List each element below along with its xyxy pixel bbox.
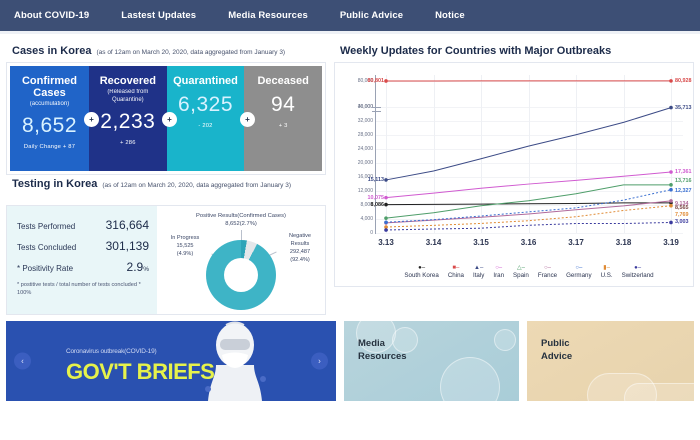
legend-marker-icon: ▲– bbox=[473, 265, 484, 272]
negative-pct: (92.4%) bbox=[290, 257, 310, 263]
x-axis-tick-label: 3.13 bbox=[378, 238, 394, 247]
in-progress-label: In Progress bbox=[171, 235, 200, 241]
plus-icon: + bbox=[240, 112, 255, 127]
card-change: - 202 bbox=[173, 123, 239, 129]
card-label: Quarantined bbox=[173, 75, 239, 87]
carousel-next-button[interactable]: › bbox=[311, 353, 328, 370]
in-progress-value: 15,525 bbox=[176, 243, 193, 249]
legend-item-spain[interactable]: △–Spain bbox=[513, 265, 529, 280]
banner-headline-tag: (COVID-19) bbox=[124, 348, 156, 355]
series-marker bbox=[384, 196, 388, 200]
row-value: 2.9% bbox=[127, 260, 149, 274]
promo-title-line2: Advice bbox=[541, 351, 572, 362]
y-axis-tick-label: 28,000 bbox=[358, 132, 373, 138]
donut-label-in-progress: In Progress 15,525 (4.9%) bbox=[161, 234, 209, 258]
data-label-end-italy: 35,713 bbox=[675, 105, 692, 111]
y-axis-tick-label: 12,000 bbox=[358, 188, 373, 194]
testing-subtitle: (as of 12am on March 20, 2020, data aggr… bbox=[102, 182, 291, 189]
dashboard-body: Cases in Korea (as of 12am on March 20, … bbox=[0, 34, 700, 315]
promo-title-line1: Media bbox=[358, 338, 385, 349]
cases-cards-panel: Confirmed Cases (accumulation) 8,652 Dai… bbox=[6, 62, 326, 175]
testing-section-title: Testing in Korea (as of 12am on March 20… bbox=[6, 175, 326, 195]
testing-row-tests-concluded: Tests Concluded 301,139 bbox=[17, 239, 149, 253]
card-label: Recovered bbox=[95, 75, 161, 87]
donut-title-line2: 8,652(2.7%) bbox=[225, 221, 257, 227]
legend-marker-icon: ■– bbox=[448, 265, 464, 272]
row-value: 316,664 bbox=[106, 218, 149, 232]
promo-card-title: Public Advice bbox=[541, 337, 572, 363]
legend-label: Italy bbox=[473, 272, 484, 280]
data-label-end-china: 80,928 bbox=[675, 78, 692, 84]
data-label-end-south-korea: 8,565 bbox=[675, 205, 689, 211]
in-progress-pct: (4.9%) bbox=[177, 251, 193, 257]
card-value: 6,325 bbox=[173, 93, 239, 116]
legend-label: Iran bbox=[493, 272, 504, 280]
series-marker bbox=[384, 220, 388, 224]
bottom-strip: Coronavirus outbreak(COVID-19) GOV'T BRI… bbox=[0, 315, 700, 407]
plus-icon: + bbox=[84, 112, 99, 127]
cases-title-text: Cases in Korea bbox=[12, 45, 91, 57]
y-axis-tick-label: 0 bbox=[370, 230, 373, 236]
nav-item-about-covid19[interactable]: About COVID-19 bbox=[14, 10, 89, 21]
positivity-donut-chart: Positive Results(Confirmed Cases) 8,652(… bbox=[157, 206, 325, 314]
series-marker bbox=[384, 216, 388, 220]
donut-title-line1: Positive Results(Confirmed Cases) bbox=[196, 213, 286, 219]
data-label-end-iran: 17,361 bbox=[675, 169, 692, 175]
y-axis-tick-label: 4,000 bbox=[360, 216, 373, 222]
series-line-switzerland bbox=[386, 222, 671, 230]
series-marker bbox=[669, 183, 673, 187]
legend-marker-icon: △– bbox=[513, 265, 529, 272]
data-label-end-u-s-: 7,769 bbox=[675, 212, 689, 218]
chart-legend: ●–South Korea■–China▲–Italy○–Iran△–Spain… bbox=[375, 265, 683, 280]
testing-title-text: Testing in Korea bbox=[12, 178, 97, 190]
carousel-prev-button[interactable]: ‹ bbox=[14, 353, 31, 370]
legend-item-france[interactable]: ○–France bbox=[538, 265, 557, 280]
stat-card-quarantined[interactable]: Quarantined 6,325 - 202 bbox=[167, 66, 245, 171]
banner-headline: Coronavirus outbreak(COVID-19) bbox=[66, 341, 156, 356]
data-label-end-germany: 12,327 bbox=[675, 188, 692, 194]
donut-title: Positive Results(Confirmed Cases) 8,652(… bbox=[157, 212, 325, 228]
nav-item-media-resources[interactable]: Media Resources bbox=[228, 10, 308, 21]
legend-label: Spain bbox=[513, 272, 529, 280]
row-key: Tests Performed bbox=[17, 222, 75, 231]
data-label-end-spain: 13,716 bbox=[675, 178, 692, 184]
weekly-updates-line-chart: 04,0008,00012,00016,00020,00024,00028,00… bbox=[334, 62, 694, 287]
plus-icon: + bbox=[162, 112, 177, 127]
testing-panel: Tests Performed 316,664 Tests Concluded … bbox=[6, 205, 326, 315]
data-label-start-south-korea: 8,086 bbox=[371, 202, 385, 208]
banner-headline-text: Coronavirus outbreak bbox=[66, 348, 124, 355]
legend-label: China bbox=[448, 272, 464, 280]
legend-marker-icon: ○– bbox=[566, 265, 591, 272]
legend-label: France bbox=[538, 272, 557, 280]
row-key: * Positivity Rate bbox=[17, 264, 73, 273]
promo-card-title: Media Resources bbox=[358, 337, 407, 363]
govt-briefs-banner[interactable]: Coronavirus outbreak(COVID-19) GOV'T BRI… bbox=[6, 321, 336, 401]
series-line-germany bbox=[386, 190, 671, 223]
promo-card-public-advice[interactable]: Public Advice bbox=[527, 321, 694, 401]
chart-series-layer bbox=[376, 75, 683, 233]
cases-cards: Confirmed Cases (accumulation) 8,652 Dai… bbox=[10, 66, 322, 171]
negative-label-2: Results bbox=[291, 241, 310, 247]
virus-bubble-icon bbox=[494, 329, 516, 351]
series-marker bbox=[669, 221, 673, 225]
stat-card-recovered[interactable]: Recovered (Released from Quarantine) 2,2… bbox=[89, 66, 167, 171]
promo-title-line1: Public bbox=[541, 338, 570, 349]
promo-title-line2: Resources bbox=[358, 351, 407, 362]
hands-shape-icon bbox=[624, 383, 694, 401]
data-label-start-italy: 15,113 bbox=[368, 177, 384, 183]
legend-label: South Korea bbox=[404, 272, 438, 280]
nav-item-lastest-updates[interactable]: Lastest Updates bbox=[121, 10, 196, 21]
series-marker bbox=[384, 79, 388, 83]
card-sublabel: (accumulation) bbox=[16, 100, 83, 108]
series-marker bbox=[669, 79, 673, 83]
virus-bubble-icon bbox=[440, 357, 500, 401]
series-marker bbox=[669, 188, 673, 192]
y-axis-tick-label: 40,000 bbox=[358, 104, 373, 110]
series-line-south-korea bbox=[386, 203, 671, 205]
card-sublabel: (Released from Quarantine) bbox=[95, 88, 161, 104]
series-marker bbox=[669, 170, 673, 174]
nav-item-public-advice[interactable]: Public Advice bbox=[340, 10, 403, 21]
negative-value: 292,487 bbox=[290, 249, 310, 255]
leader-line bbox=[241, 230, 242, 240]
top-navigation: About COVID-19 Lastest Updates Media Res… bbox=[0, 0, 700, 31]
testing-row-tests-performed: Tests Performed 316,664 bbox=[17, 218, 149, 232]
testing-row-positivity-rate: * Positivity Rate 2.9% bbox=[17, 260, 149, 274]
series-marker bbox=[669, 204, 673, 208]
series-line-u-s- bbox=[386, 206, 671, 227]
legend-marker-icon: ●– bbox=[404, 265, 438, 272]
data-label-start-china: 80,801 bbox=[368, 78, 385, 84]
chart-section-title: Weekly Updates for Countries with Major … bbox=[334, 42, 694, 62]
negative-label-1: Negative bbox=[289, 233, 311, 239]
y-axis-tick-label: 32,000 bbox=[358, 118, 373, 124]
card-change: Daily Change + 87 bbox=[16, 144, 83, 150]
legend-label: Switzerland bbox=[622, 272, 654, 280]
left-column: Cases in Korea (as of 12am on March 20, … bbox=[6, 42, 326, 315]
promo-card-media-resources[interactable]: Media Resources bbox=[344, 321, 519, 401]
row-value: 301,139 bbox=[106, 239, 149, 253]
card-label: Confirmed Cases bbox=[16, 75, 83, 99]
series-marker bbox=[384, 228, 388, 232]
legend-item-switzerland[interactable]: ●–Switzerland bbox=[622, 265, 654, 280]
row-key: Tests Concluded bbox=[17, 243, 76, 252]
legend-item-china[interactable]: ■–China bbox=[448, 265, 464, 280]
card-value: 2,233 bbox=[95, 110, 161, 133]
series-marker bbox=[384, 178, 388, 182]
nav-item-notice[interactable]: Notice bbox=[435, 10, 465, 21]
banner-title: GOV'T BRIEFS bbox=[66, 359, 214, 385]
series-line-spain bbox=[386, 185, 671, 218]
legend-item-germany[interactable]: ○–Germany bbox=[566, 265, 591, 280]
data-label-start-iran: 10,075 bbox=[368, 195, 385, 201]
legend-marker-icon: ○– bbox=[493, 265, 504, 272]
donut-ring bbox=[206, 240, 276, 310]
card-value: 94 bbox=[250, 93, 316, 116]
legend-marker-icon: ○– bbox=[538, 265, 557, 272]
series-marker bbox=[384, 203, 388, 207]
cases-subtitle: (as of 12am on March 20, 2020, data aggr… bbox=[96, 49, 285, 56]
y-axis-tick-label: 20,000 bbox=[358, 160, 373, 166]
legend-item-south-korea[interactable]: ●–South Korea bbox=[404, 265, 438, 280]
testing-footnote: * postitive tests / total number of test… bbox=[17, 281, 149, 297]
legend-marker-icon: ▮– bbox=[601, 265, 613, 272]
x-axis-tick-label: 3.14 bbox=[426, 238, 442, 247]
card-change: + 3 bbox=[250, 123, 316, 129]
data-label-end-switzerland: 3,003 bbox=[675, 219, 689, 225]
legend-item-u-s-[interactable]: ▮–U.S. bbox=[601, 265, 613, 280]
x-axis-tick-label: 3.19 bbox=[663, 238, 679, 247]
legend-item-iran[interactable]: ○–Iran bbox=[493, 265, 504, 280]
testing-stats: Tests Performed 316,664 Tests Concluded … bbox=[7, 206, 157, 314]
legend-label: Germany bbox=[566, 272, 591, 280]
series-line-italy bbox=[386, 108, 671, 180]
card-value: 8,652 bbox=[16, 114, 83, 137]
x-axis-tick-label: 3.17 bbox=[568, 238, 584, 247]
legend-item-italy[interactable]: ▲–Italy bbox=[473, 265, 484, 280]
stat-card-deceased[interactable]: Deceased 94 + 3 bbox=[244, 66, 322, 171]
positivity-value: 2.9 bbox=[127, 260, 144, 274]
legend-marker-icon: ●– bbox=[622, 265, 654, 272]
series-marker bbox=[669, 106, 673, 110]
card-label: Deceased bbox=[250, 75, 316, 87]
series-marker bbox=[669, 199, 673, 203]
legend-label: U.S. bbox=[601, 272, 613, 280]
chart-plot-area: 04,0008,00012,00016,00020,00024,00028,00… bbox=[375, 75, 683, 234]
x-axis-tick-label: 3.18 bbox=[616, 238, 632, 247]
x-axis-tick-label: 3.15 bbox=[473, 238, 489, 247]
positivity-unit: % bbox=[143, 266, 149, 273]
chart-gridline bbox=[376, 233, 683, 234]
chart-title-text: Weekly Updates for Countries with Major … bbox=[340, 45, 611, 57]
x-axis-tick-label: 3.16 bbox=[521, 238, 537, 247]
stat-card-confirmed-cases[interactable]: Confirmed Cases (accumulation) 8,652 Dai… bbox=[10, 66, 89, 171]
y-axis-tick-label: 24,000 bbox=[358, 146, 373, 152]
donut-label-negative-results: Negative Results 292,487 (92.4%) bbox=[277, 232, 323, 264]
cases-section-title: Cases in Korea (as of 12am on March 20, … bbox=[6, 42, 326, 62]
card-change: + 286 bbox=[95, 140, 161, 146]
protective-suit-illustration bbox=[202, 321, 268, 401]
right-column: Weekly Updates for Countries with Major … bbox=[334, 42, 694, 315]
